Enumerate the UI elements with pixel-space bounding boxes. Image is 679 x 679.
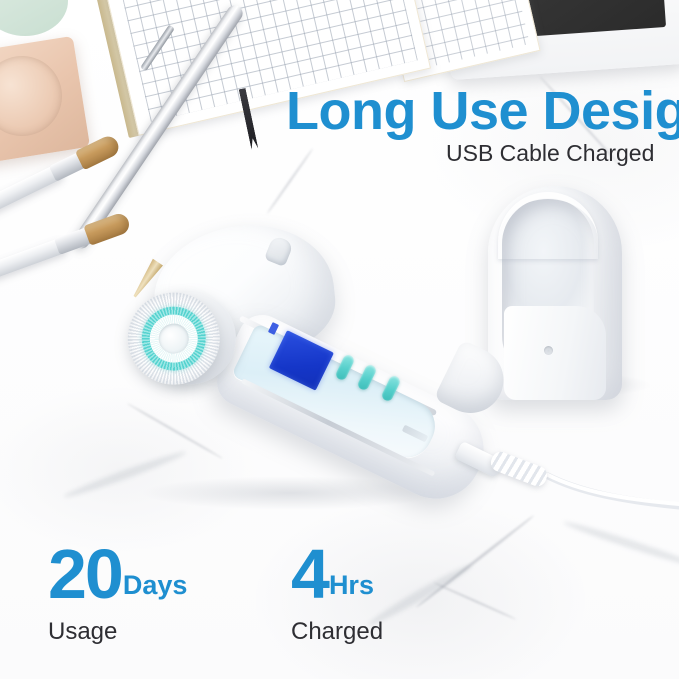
page-title: Long Use Design [286,80,679,142]
stat-charged-label: Charged [291,618,383,646]
stand-front [504,306,606,400]
stat-charged-unit: Hrs [329,572,374,606]
stat-usage: 20 Days Usage [48,542,187,646]
stat-usage-unit: Days [123,572,188,606]
stat-usage-number: 20 [48,542,122,606]
stat-charged-number: 4 [291,542,328,606]
charging-stand [484,186,628,400]
stat-charged: 4 Hrs Charged [291,542,383,646]
stand-drain-hole [544,346,553,355]
facial-cleansing-brush [118,216,498,516]
product-marketing-image: Long Use Design USB Cable Charged 20 Day… [0,0,679,679]
stat-usage-label: Usage [48,618,187,646]
page-subtitle: USB Cable Charged [446,140,654,167]
brush-head [122,284,235,397]
